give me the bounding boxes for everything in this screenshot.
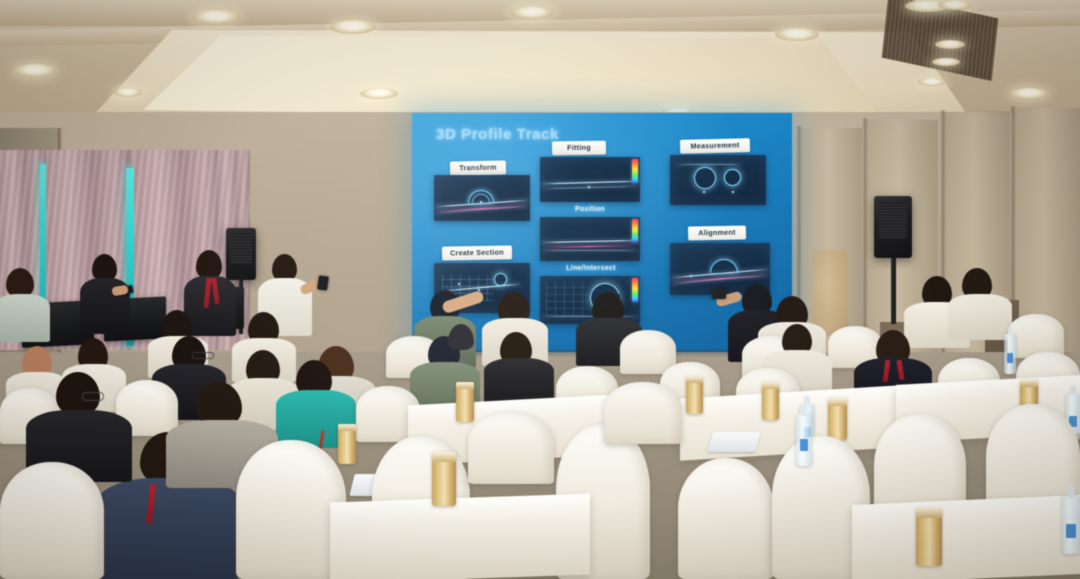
panel-tag-alignment: Alignment <box>688 225 746 240</box>
chair <box>604 382 682 444</box>
tissue-cylinder <box>338 424 356 464</box>
downlight-icon <box>938 0 972 10</box>
tissue-cylinder <box>456 382 474 422</box>
downlight-icon <box>510 6 554 19</box>
downlight-icon <box>114 88 142 97</box>
water-bottle <box>796 414 812 466</box>
loudspeaker-left <box>226 228 256 280</box>
smartphone[interactable] <box>317 275 329 290</box>
banquet-table <box>852 495 1080 579</box>
panel-video-measurement <box>670 155 766 205</box>
panel-tag-create-section: Create Section <box>442 245 512 260</box>
loudspeaker-right <box>874 196 912 258</box>
downlight-icon <box>14 64 56 77</box>
slide-title: 3D Profile Track <box>436 126 559 143</box>
tissue-cylinder <box>686 376 703 414</box>
colorbar-legend <box>632 159 638 183</box>
downlight-icon <box>360 88 398 99</box>
speaker-stand-right <box>891 258 896 324</box>
wall-art-panel <box>812 250 848 336</box>
tissue-cylinder <box>432 452 456 506</box>
chair <box>0 462 104 579</box>
person-body <box>0 294 50 342</box>
conference-room-photo: 3D Profile Track Transform Create Sectio… <box>0 0 1080 579</box>
panel-video-fitting <box>540 157 640 202</box>
downlight-icon <box>918 78 946 86</box>
downlight-icon <box>935 40 965 49</box>
panel-caption-position: Position <box>565 206 615 213</box>
downlight-icon <box>1010 88 1048 99</box>
eyeglasses-icon <box>82 392 104 401</box>
downlight-icon <box>192 10 240 24</box>
notepad <box>707 432 761 452</box>
banquet-table <box>330 493 590 579</box>
smartphone[interactable] <box>712 288 726 299</box>
tissue-cylinder <box>828 398 847 440</box>
panel-video-line-intersect <box>540 276 640 324</box>
water-bottle <box>1062 496 1080 554</box>
panel-video-transform <box>434 175 530 221</box>
colorbar-legend <box>632 278 638 302</box>
downlight-icon <box>932 58 960 66</box>
chair <box>468 412 554 484</box>
chair <box>1008 314 1064 358</box>
water-bottle <box>1004 334 1016 374</box>
downlight-icon <box>330 20 376 34</box>
panel-caption-line-intersect: Line/Intersect <box>555 265 627 272</box>
person-body <box>948 294 1012 340</box>
downlight-icon <box>775 28 819 41</box>
ceiling-inner-panel <box>128 36 898 120</box>
panel-video-position <box>540 217 640 261</box>
tissue-cylinder <box>916 508 942 566</box>
chair <box>678 458 774 579</box>
tissue-cylinder <box>762 382 779 420</box>
panel-tag-fitting: Fitting <box>552 141 606 156</box>
panel-tag-transform: Transform <box>450 160 506 175</box>
panel-tag-measurement: Measurement <box>680 138 750 154</box>
colorbar-legend <box>632 219 638 242</box>
person-body <box>96 478 242 579</box>
eyeglasses-icon <box>192 352 214 359</box>
